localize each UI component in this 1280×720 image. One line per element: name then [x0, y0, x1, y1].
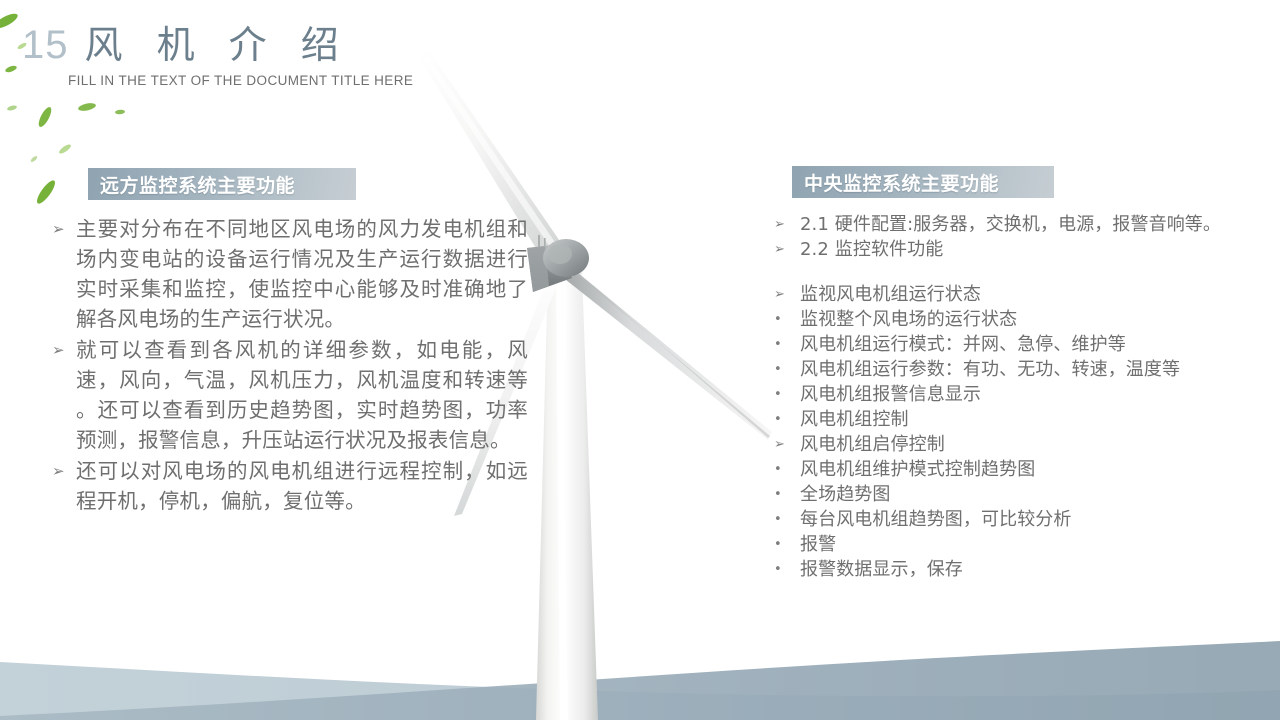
list-item-text: 报警数据显示，保存 [800, 557, 1268, 582]
bullet-dot-icon: • [768, 407, 800, 432]
list-item-text: 风电机组报警信息显示 [800, 382, 1268, 407]
bullet-dot-icon: • [768, 507, 800, 532]
list-item: ➢ 还可以对风电场的风电机组进行远程控制，如远程开机，停机，偏航，复位等。 [46, 456, 528, 516]
slide-title-block: 15 风 机 介 绍 FILL IN THE TEXT OF THE DOCUM… [22, 14, 413, 88]
title-row: 15 风 机 介 绍 [22, 14, 413, 69]
list-item: • 每台风电机组趋势图，可比较分析 [768, 507, 1268, 532]
list-item-text: 主要对分布在不同地区风电场的风力发电机组和场内变电站的设备运行情况及生产运行数据… [76, 214, 528, 334]
list-item-text: 风电机组维护模式控制趋势图 [800, 457, 1268, 482]
right-panel-heading: 中央监控系统主要功能 [792, 166, 1054, 198]
bullet-dot-icon: • [768, 457, 800, 482]
list-item: ➢ 2.2 监控软件功能 [768, 237, 1268, 262]
list-item-text: 还可以对风电场的风电机组进行远程控制，如远程开机，停机，偏航，复位等。 [76, 456, 528, 516]
left-panel-heading: 远方监控系统主要功能 [88, 168, 356, 200]
page-subtitle: FILL IN THE TEXT OF THE DOCUMENT TITLE H… [68, 73, 413, 88]
bullet-arrow-icon: ➢ [768, 212, 800, 237]
presentation-slide: 15 风 机 介 绍 FILL IN THE TEXT OF THE DOCUM… [0, 0, 1280, 720]
list-item: ➢ 就可以查看到各风机的详细参数，如电能，风速，风向，气温，风机压力，风机温度和… [46, 335, 528, 455]
list-item: • 风电机组运行参数：有功、无功、转速，温度等 [768, 357, 1268, 382]
list-item-text: 监视整个风电场的运行状态 [800, 307, 1268, 332]
bullet-dot-icon: • [768, 532, 800, 557]
list-item-text: 报警 [800, 532, 1268, 557]
bullet-dot-icon: • [768, 307, 800, 332]
list-item-text: 风电机组运行参数：有功、无功、转速，温度等 [800, 357, 1268, 382]
list-item-text: 就可以查看到各风机的详细参数，如电能，风速，风向，气温，风机压力，风机温度和转速… [76, 335, 528, 455]
bullet-arrow-icon: ➢ [768, 432, 800, 457]
list-item-text: 2.1 硬件配置:服务器，交换机，电源，报警音响等。 [800, 212, 1268, 237]
list-item: ➢ 主要对分布在不同地区风电场的风力发电机组和场内变电站的设备运行情况及生产运行… [46, 214, 528, 334]
list-item: • 监视整个风电场的运行状态 [768, 307, 1268, 332]
bullet-dot-icon: • [768, 557, 800, 582]
list-item: • 风电机组运行模式：并网、急停、维护等 [768, 332, 1268, 357]
bullet-arrow-icon: ➢ [768, 282, 800, 307]
slide-number: 15 [22, 23, 69, 68]
bullet-arrow-icon: ➢ [46, 456, 76, 486]
list-item-text: 风电机组控制 [800, 407, 1268, 432]
page-title: 风 机 介 绍 [85, 14, 350, 69]
list-item: • 报警数据显示，保存 [768, 557, 1268, 582]
list-item: • 全场趋势图 [768, 482, 1268, 507]
list-item-text: 2.2 监控软件功能 [800, 237, 1268, 262]
list-item-text: 风电机组启停控制 [800, 432, 1268, 457]
bullet-dot-icon: • [768, 382, 800, 407]
bullet-arrow-icon: ➢ [768, 237, 800, 262]
list-item: ➢ 监视风电机组运行状态 [768, 282, 1268, 307]
list-item-text: 全场趋势图 [800, 482, 1268, 507]
left-panel-content: ➢ 主要对分布在不同地区风电场的风力发电机组和场内变电站的设备运行情况及生产运行… [46, 214, 528, 517]
list-item: ➢ 2.1 硬件配置:服务器，交换机，电源，报警音响等。 [768, 212, 1268, 237]
bullet-dot-icon: • [768, 482, 800, 507]
list-item: • 风电机组控制 [768, 407, 1268, 432]
bullet-arrow-icon: ➢ [46, 335, 76, 365]
list-item: • 风电机组维护模式控制趋势图 [768, 457, 1268, 482]
list-item-text: 监视风电机组运行状态 [800, 282, 1268, 307]
bullet-arrow-icon: ➢ [46, 214, 76, 244]
list-item: ➢ 风电机组启停控制 [768, 432, 1268, 457]
list-item-text: 风电机组运行模式：并网、急停、维护等 [800, 332, 1268, 357]
list-item: • 风电机组报警信息显示 [768, 382, 1268, 407]
bullet-dot-icon: • [768, 357, 800, 382]
bullet-dot-icon: • [768, 332, 800, 357]
list-item: • 报警 [768, 532, 1268, 557]
right-panel-content: ➢ 2.1 硬件配置:服务器，交换机，电源，报警音响等。 ➢ 2.2 监控软件功… [768, 212, 1268, 582]
list-item-text: 每台风电机组趋势图，可比较分析 [800, 507, 1268, 532]
